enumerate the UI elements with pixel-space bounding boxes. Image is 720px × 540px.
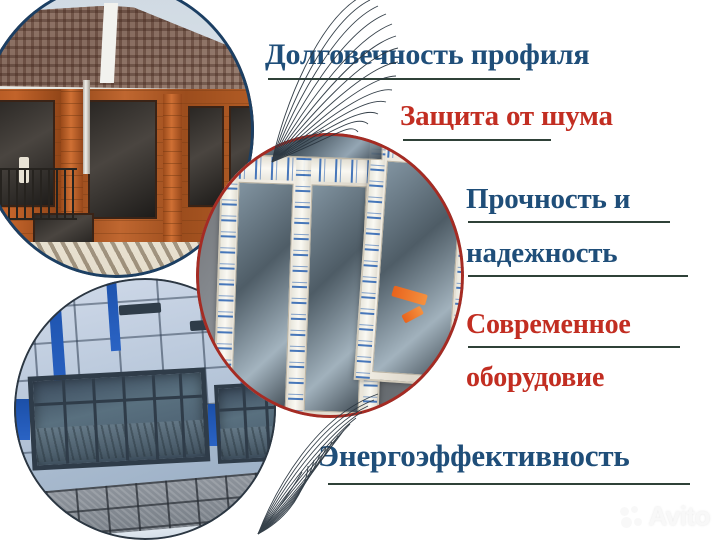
headline-energy-efficiency: Энергоэффективность	[318, 438, 630, 474]
avito-watermark-label: Avito	[648, 501, 710, 532]
headline-strength-line1: Прочность и	[466, 183, 630, 216]
headline-strength-line2: надежность	[466, 237, 617, 270]
headline-strength-line2-rule	[468, 275, 688, 277]
headline-equipment-line2: оборудовие	[466, 362, 604, 394]
headline-durability: Долговечность профиля	[265, 38, 589, 72]
avito-dots-icon	[620, 506, 644, 528]
headline-energy-efficiency-rule	[328, 483, 690, 485]
headline-equipment-line1: Современное	[466, 309, 631, 341]
headline-durability-rule	[268, 78, 520, 80]
headline-noise-protection: Защита от шума	[400, 100, 613, 133]
headline-strength-line1-rule	[468, 221, 670, 223]
photo-circle-border	[196, 133, 464, 418]
avito-watermark: Avito	[620, 501, 710, 532]
headline-equipment-line1-rule	[468, 346, 680, 348]
veka-windows-photo-circle	[196, 133, 464, 418]
poster-canvas: Долговечность профиля Защита от шума Про…	[0, 0, 720, 540]
